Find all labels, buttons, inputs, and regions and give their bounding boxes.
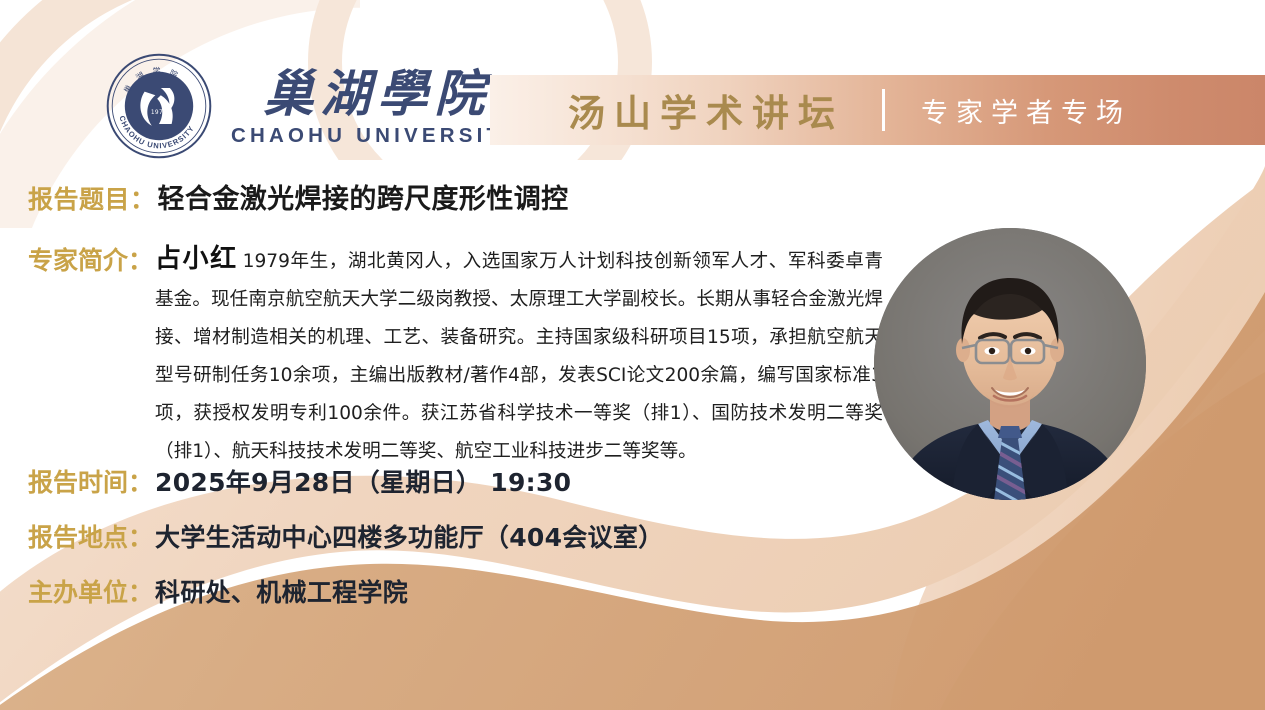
university-seal-icon: 1977 巢 湖 学 院 CHAOHU UNIVERSITY: [105, 52, 213, 160]
speaker-row: 专家简介： 占小红1979年生，湖北黄冈人，入选国家万人计划科技创新领军人才、军…: [28, 240, 883, 471]
lecture-poster: 1977 巢 湖 学 院 CHAOHU UNIVERSITY 巢湖學院 CHAO…: [0, 0, 1265, 710]
speaker-portrait-photo: [874, 228, 1146, 500]
speaker-bio-text: 1979年生，湖北黄冈人，入选国家万人计划科技创新领军人才、军科委卓青基金。现任…: [155, 251, 883, 462]
topic-row: 报告题目： 轻合金激光焊接的跨尺度形性调控: [28, 177, 569, 216]
university-name-cn: 巢湖學院: [257, 68, 492, 121]
speaker-portrait: [874, 228, 1146, 500]
forum-banner: 汤山学术讲坛 专家学者专场: [490, 75, 1265, 145]
university-logo-block: 1977 巢 湖 学 院 CHAOHU UNIVERSITY 巢湖學院 CHAO…: [105, 52, 521, 160]
forum-banner-title: 汤山学术讲坛: [568, 83, 844, 137]
speaker-label: 专家简介：: [28, 240, 153, 277]
poster-header: 1977 巢 湖 学 院 CHAOHU UNIVERSITY 巢湖學院 CHAO…: [0, 0, 1265, 165]
topic-value: 轻合金激光焊接的跨尺度形性调控: [158, 177, 569, 216]
speaker-name: 占小红: [155, 244, 243, 274]
place-row: 报告地点： 大学生活动中心四楼多功能厅（404会议室）: [28, 518, 664, 554]
svg-text:1977: 1977: [151, 110, 167, 116]
host-value: 科研处、机械工程学院: [155, 573, 408, 609]
topic-label: 报告题目：: [28, 180, 156, 216]
speaker-bio-block: 占小红1979年生，湖北黄冈人，入选国家万人计划科技创新领军人才、军科委卓青基金…: [155, 240, 883, 471]
time-value: 2025年9月28日（星期日） 19:30: [155, 463, 571, 499]
host-label: 主办单位：: [28, 573, 153, 609]
place-label: 报告地点：: [28, 518, 153, 554]
place-value: 大学生活动中心四楼多功能厅（404会议室）: [155, 518, 664, 554]
time-label: 报告时间：: [28, 463, 153, 499]
university-name-block: 巢湖學院 CHAOHU UNIVERSITY: [227, 64, 521, 148]
forum-banner-subtitle: 专家学者专场: [921, 91, 1131, 130]
university-name-en: CHAOHU UNIVERSITY: [227, 124, 521, 148]
time-row: 报告时间： 2025年9月28日（星期日） 19:30: [28, 463, 571, 499]
banner-divider: [882, 89, 885, 131]
host-row: 主办单位： 科研处、机械工程学院: [28, 573, 408, 609]
